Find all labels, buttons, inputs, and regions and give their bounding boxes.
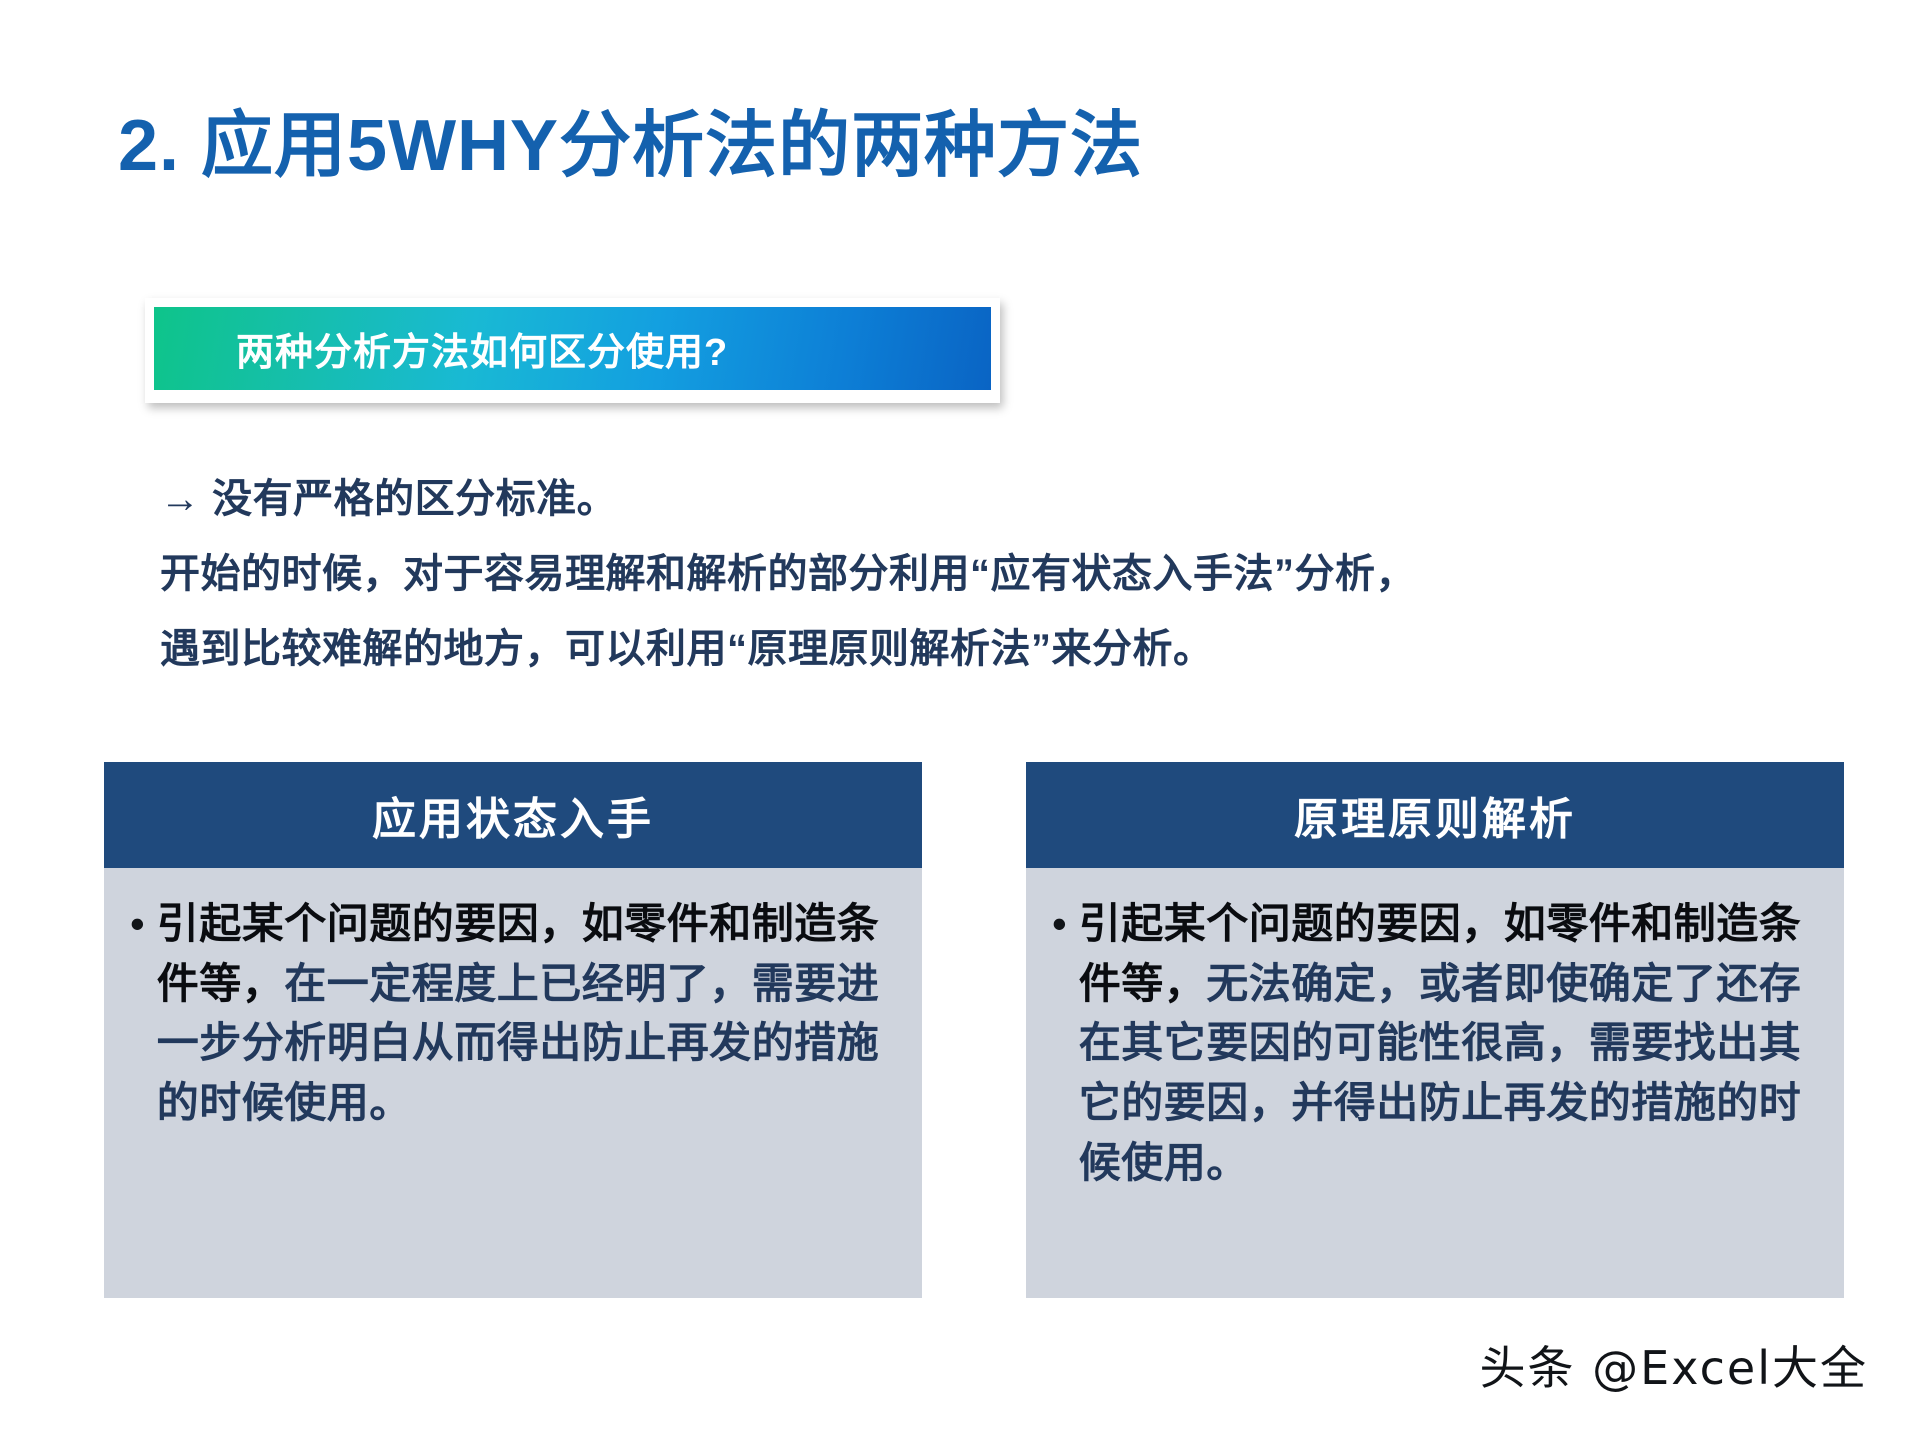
body-line-2: 开始的时候，对于容易理解和解析的部分利用“应有状态入手法”分析，	[160, 537, 1780, 612]
card-right-header: 原理原则解析	[1026, 762, 1844, 868]
card-left-bullet-text: 引起某个问题的要因，如零件和制造条件等，在一定程度上已经明了，需要进一步分析明白…	[157, 894, 892, 1268]
card-left-body: • 引起某个问题的要因，如零件和制造条件等，在一定程度上已经明了，需要进一步分析…	[104, 868, 922, 1298]
comparison-cards: 应用状态入手 • 引起某个问题的要因，如零件和制造条件等，在一定程度上已经明了，…	[104, 762, 1844, 1298]
banner-gradient-fill: 两种分析方法如何区分使用?	[154, 307, 991, 390]
bullet-icon: •	[130, 894, 145, 1268]
card-left: 应用状态入手 • 引起某个问题的要因，如零件和制造条件等，在一定程度上已经明了，…	[104, 762, 922, 1298]
bullet-icon: •	[1052, 894, 1067, 1268]
highlight-banner: 两种分析方法如何区分使用?	[145, 298, 1000, 403]
card-right-body: • 引起某个问题的要因，如零件和制造条件等，无法确定，或者即使确定了还存在其它要…	[1026, 868, 1844, 1298]
body-paragraph: → 没有严格的区分标准。 开始的时候，对于容易理解和解析的部分利用“应有状态入手…	[160, 462, 1780, 688]
slide-root: 2. 应用5WHY分析法的两种方法 两种分析方法如何区分使用? → 没有严格的区…	[0, 0, 1920, 1440]
card-left-header: 应用状态入手	[104, 762, 922, 868]
body-line-1: → 没有严格的区分标准。	[160, 462, 1780, 537]
body-line-3: 遇到比较难解的地方，可以利用“原理原则解析法”来分析。	[160, 612, 1780, 687]
banner-label: 两种分析方法如何区分使用?	[154, 321, 728, 376]
page-title: 2. 应用5WHY分析法的两种方法	[118, 108, 1143, 186]
card-right-bullet-text: 引起某个问题的要因，如零件和制造条件等，无法确定，或者即使确定了还存在其它要因的…	[1079, 894, 1814, 1268]
card-right-header-label: 原理原则解析	[1294, 783, 1576, 847]
card-right: 原理原则解析 • 引起某个问题的要因，如零件和制造条件等，无法确定，或者即使确定…	[1026, 762, 1844, 1298]
watermark: 头条 @Excel大全	[1480, 1332, 1868, 1398]
card-left-header-label: 应用状态入手	[372, 783, 654, 847]
